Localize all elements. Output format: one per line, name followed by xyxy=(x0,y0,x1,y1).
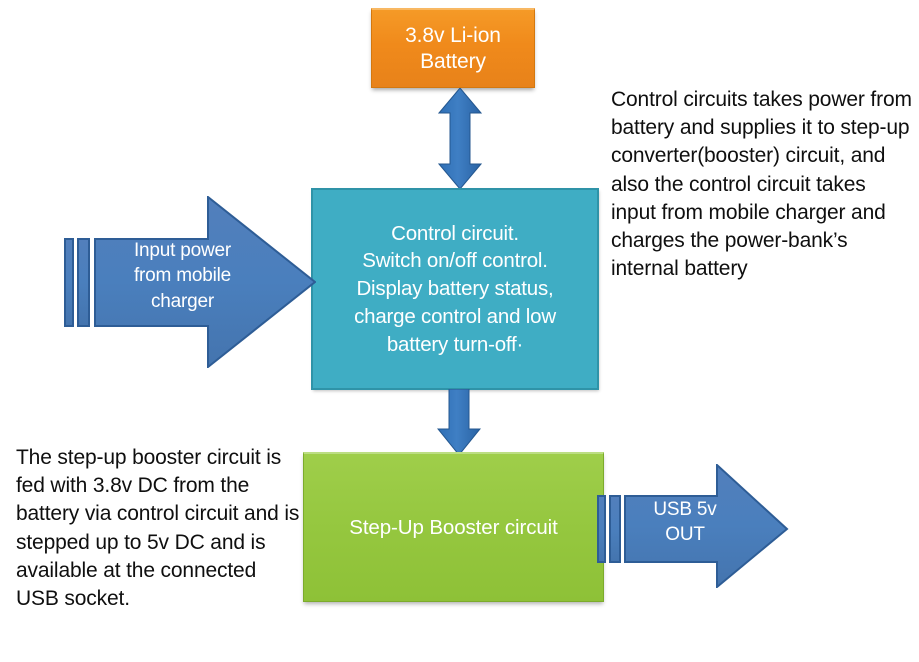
note-control-circuit: Control circuits takes power from batter… xyxy=(611,86,916,284)
right-block-arrow-icon xyxy=(597,464,817,588)
step-up-booster-label: Step-Up Booster circuit xyxy=(343,516,563,540)
note-step-up-booster: The step-up booster circuit is fed with … xyxy=(16,444,301,613)
step-up-booster-box: Step-Up Booster circuit xyxy=(303,452,604,602)
control-circuit-label: Control circuit. Switch on/off control. … xyxy=(348,220,562,358)
control-circuit-box: Control circuit. Switch on/off control. … xyxy=(311,188,599,390)
down-arrow-icon xyxy=(437,389,481,456)
control-booster-arrow xyxy=(437,389,481,456)
battery-control-double-arrow xyxy=(438,88,482,189)
battery-box-label: 3.8v Li-ion Battery xyxy=(372,23,534,74)
right-block-arrow-icon xyxy=(64,196,316,368)
double-arrow-icon xyxy=(438,88,482,189)
usb-output-arrow xyxy=(597,464,817,588)
battery-box: 3.8v Li-ion Battery xyxy=(371,8,535,88)
input-power-arrow xyxy=(64,196,316,368)
